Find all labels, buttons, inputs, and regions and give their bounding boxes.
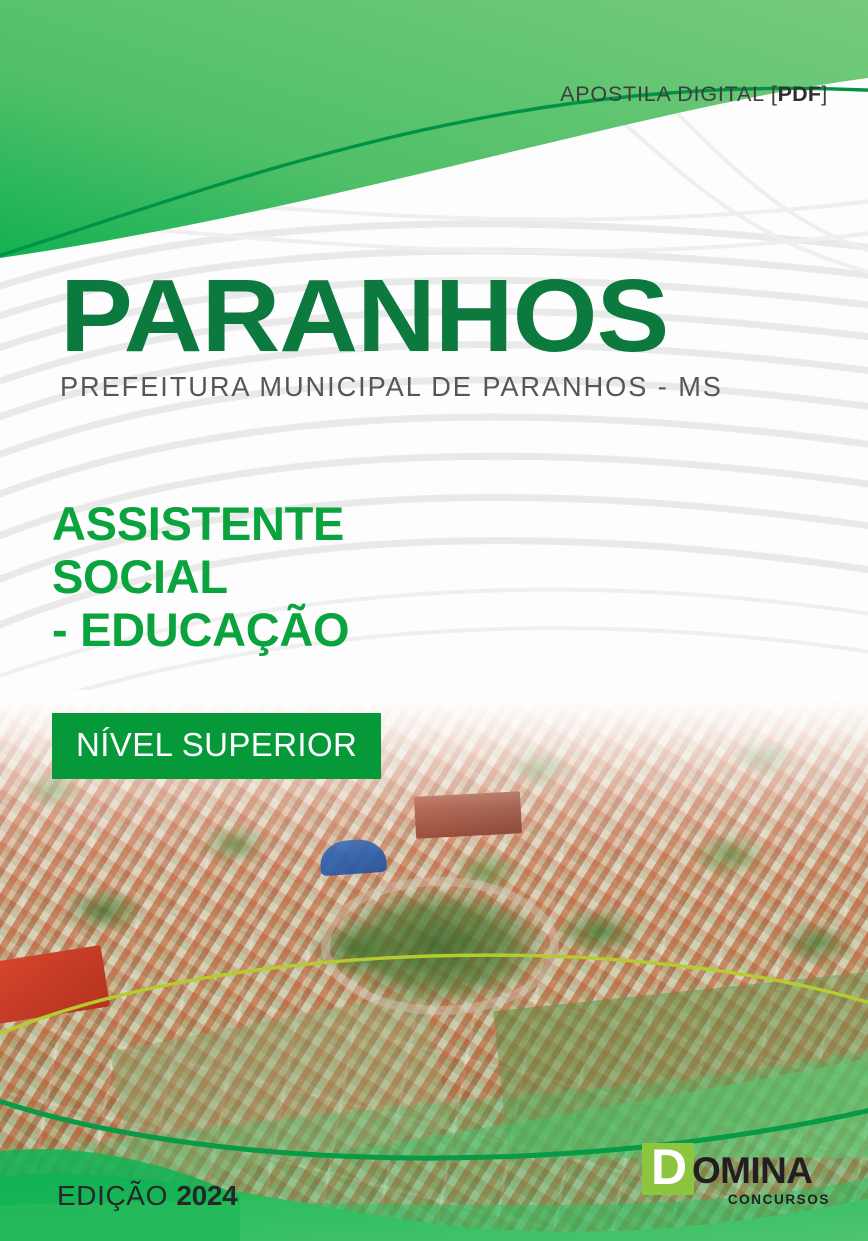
- domina-logo: D OMINA CONCURSOS: [642, 1143, 832, 1213]
- role-title: ASSISTENTE SOCIAL - EDUCAÇÃO: [52, 497, 349, 656]
- edition-label: EDIÇÃO 2024: [57, 1180, 237, 1212]
- education-level-badge: NÍVEL SUPERIOR: [52, 713, 381, 779]
- city-title: PARANHOS: [60, 268, 668, 365]
- edition-text: EDIÇÃO: [57, 1180, 168, 1211]
- role-line-3: - EDUCAÇÃO: [52, 603, 349, 656]
- domina-logo-initial: D: [651, 1141, 687, 1193]
- domina-logo-name: OMINA: [692, 1152, 812, 1189]
- format-badge-prefix: APOSTILA DIGITAL [: [560, 82, 778, 106]
- domina-logo-tagline: CONCURSOS: [728, 1192, 830, 1207]
- organization-subtitle: PREFEITURA MUNICIPAL DE PARANHOS - MS: [60, 371, 723, 403]
- apostila-cover: APOSTILA DIGITAL [PDF] PARANHOS PREFEITU…: [0, 0, 868, 1241]
- edition-year: 2024: [176, 1180, 237, 1211]
- domina-logo-row: D OMINA: [642, 1143, 832, 1195]
- photo-arc-curve: [0, 955, 868, 1038]
- format-badge-pdf: PDF: [778, 82, 822, 106]
- domina-logo-initial-box: D: [642, 1143, 694, 1195]
- format-badge: APOSTILA DIGITAL [PDF]: [560, 82, 828, 107]
- role-line-2: SOCIAL: [52, 550, 349, 603]
- format-badge-suffix: ]: [821, 82, 828, 106]
- role-line-1: ASSISTENTE: [52, 497, 349, 550]
